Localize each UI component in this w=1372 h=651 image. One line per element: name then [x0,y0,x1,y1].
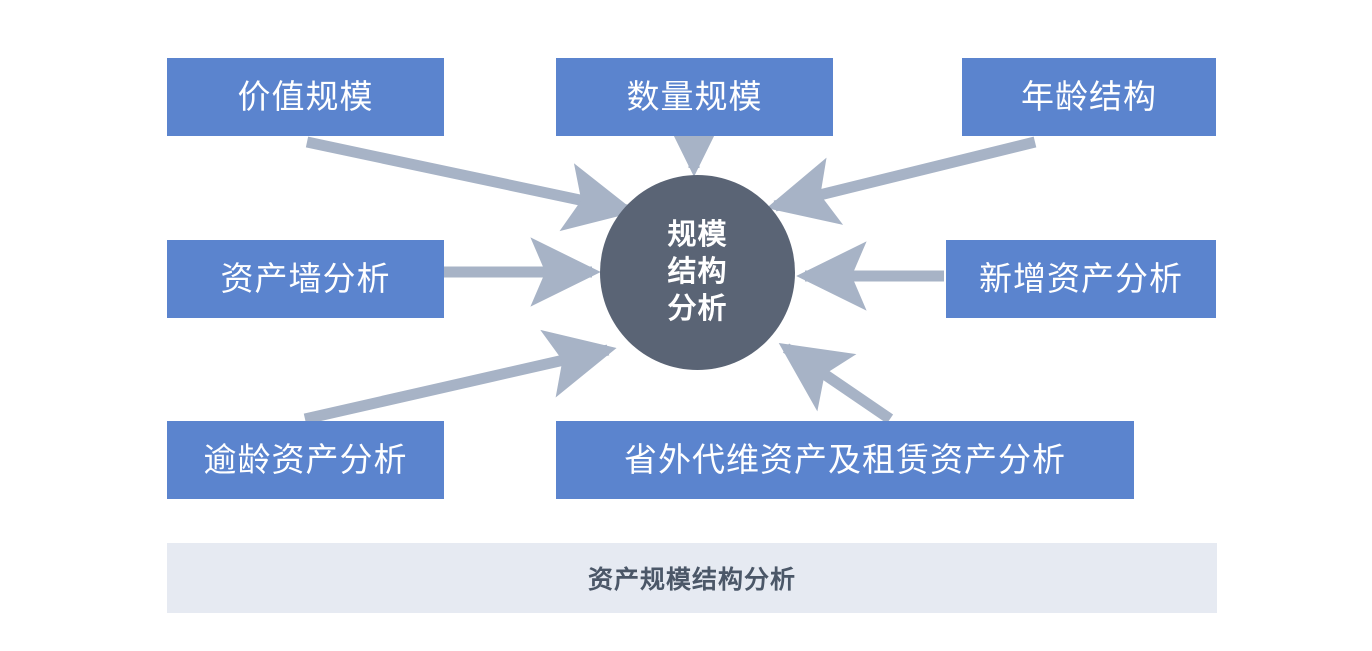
hub-circle-scale-structure-analysis[interactable]: 规模 结构 分析 [600,175,795,370]
node-label: 价值规模 [238,79,374,115]
hub-label-line-1: 规模 [667,217,727,254]
connector-overdue-to-hub [305,350,608,419]
connector-outside-to-hub [786,348,890,419]
node-box-quantity-scale[interactable]: 数量规模 [556,58,833,136]
caption-bar: 资产规模结构分析 [167,543,1217,613]
connector-value-to-hub [307,142,627,210]
hub-label: 规模 结构 分析 [667,217,727,328]
hub-label-line-3: 分析 [667,291,727,328]
node-box-overdue-asset-analysis[interactable]: 逾龄资产分析 [167,421,444,499]
node-label: 年龄结构 [1021,79,1157,115]
diagram-canvas: 价值规模 数量规模 年龄结构 资产墙分析 新增资产分析 逾龄资产分析 省外代维资… [0,0,1372,651]
node-label: 省外代维资产及租赁资产分析 [624,442,1066,478]
connector-age-to-hub [775,142,1035,206]
node-box-age-structure[interactable]: 年龄结构 [962,58,1216,136]
node-label: 新增资产分析 [979,261,1183,297]
caption-text: 资产规模结构分析 [588,560,796,596]
node-box-new-asset-analysis[interactable]: 新增资产分析 [946,240,1216,318]
node-label: 数量规模 [627,79,763,115]
node-box-asset-wall-analysis[interactable]: 资产墙分析 [167,240,444,318]
node-label: 资产墙分析 [221,261,391,297]
node-label: 逾龄资产分析 [204,442,408,478]
node-box-value-scale[interactable]: 价值规模 [167,58,444,136]
hub-label-line-2: 结构 [667,254,727,291]
node-box-outsourced-leased-asset-analysis[interactable]: 省外代维资产及租赁资产分析 [556,421,1134,499]
